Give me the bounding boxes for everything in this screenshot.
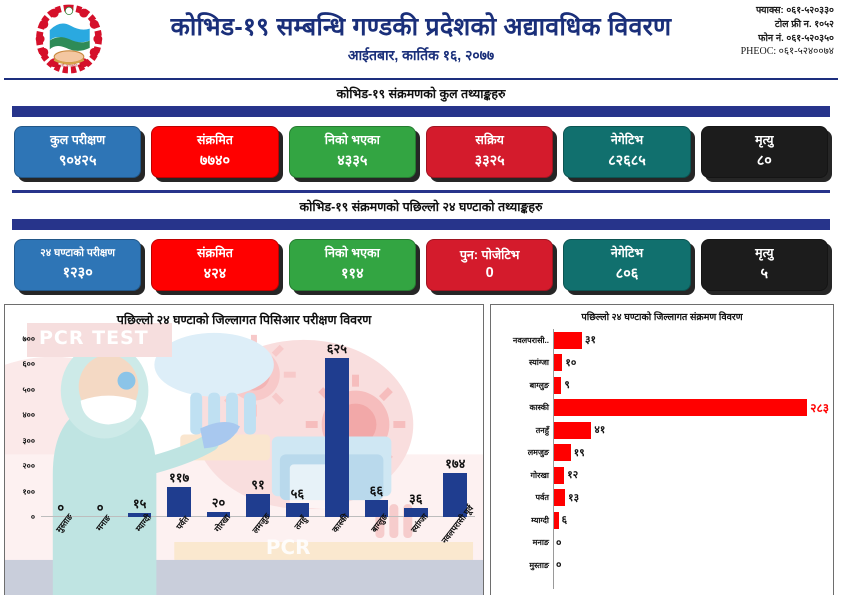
stat-card: मृत्यु८० (701, 126, 828, 178)
stat-card-value: ४२४ (204, 263, 227, 283)
bar-value-label: ६२५ (327, 339, 347, 357)
x-axis-labels-pcr: मुस्ताङमनाङम्याग्दीपर्वतगोरखालमजुङतनहुँक… (41, 517, 475, 593)
y-axis-tick-label: २०० (23, 461, 35, 472)
category-label: तनहुँ (491, 425, 553, 436)
bar-series-pcr: ००१५११७२०९१५६६२५६६३६१७४ (41, 339, 475, 517)
stat-card: सक्रिय३३२५ (426, 126, 553, 178)
stat-card-label: २४ घण्टाको परीक्षण (40, 248, 115, 260)
stat-card-label: निको भएका (325, 134, 380, 148)
x-axis-label: गोरखा (199, 517, 238, 593)
stat-card: निको भएका११४ (289, 239, 416, 291)
title-block: कोभिड-१९ सम्बन्धि गण्डकी प्रदेशको अद्याव… (0, 13, 842, 66)
category-label: मनाङ (491, 537, 553, 548)
stat-card-value: ११४ (341, 263, 364, 283)
category-label: मुस्ताङ (491, 560, 553, 571)
page-title: कोभिड-१९ सम्बन्धि गण्डकी प्रदेशको अद्याव… (40, 13, 802, 42)
bar-value-label: ११७ (169, 468, 189, 486)
chart-title-pcr: पछिल्लो २४ घण्टाको जिल्लागत पिसिआर परीक्… (5, 311, 483, 328)
bar-value-label: १७४ (445, 454, 465, 472)
bar-value-label: ० (57, 498, 64, 516)
stat-card-label: संक्रमित (197, 247, 233, 261)
y-axis-tick-label: ० (31, 512, 35, 523)
x-axis-label: बाग्लुङ (357, 517, 396, 593)
x-axis-label: पर्वत (159, 517, 198, 593)
bar-column: ६२५ (317, 339, 356, 517)
category-label: लमजुङ (491, 447, 553, 458)
stat-card-label: कुल परीक्षण (50, 134, 105, 148)
y-axis-tick-label: ४०० (23, 410, 35, 421)
chart-infection-by-district: पछिल्लो २४ घण्टाको जिल्लागत संक्रमण विवर… (490, 304, 834, 595)
stat-card-value: ९०४२५ (59, 150, 97, 170)
stat-card-value: ३३२५ (475, 150, 505, 170)
stat-cards-total: कुल परीक्षण९०४२५संक्रमित७७४०निको भएका४३३… (0, 117, 842, 186)
x-axis-label: कास्की (317, 517, 356, 593)
bar-column: ११७ (159, 339, 198, 517)
stat-card-value: ४३३५ (337, 150, 367, 170)
bar-column: ६६ (357, 339, 396, 517)
stat-card: नेगेटिभ८०६ (563, 239, 690, 291)
bar: ५६ (286, 503, 310, 517)
chart-pcr-test-by-district: PCR PCR TEST पछिल्लो २४ घण्टाको जिल्लागत… (4, 304, 484, 595)
bar-column: ३६ (396, 339, 435, 517)
stat-card-label: सक्रिय (475, 134, 504, 148)
bar-column: १५ (120, 339, 159, 517)
bar-value-label: ६६ (370, 481, 384, 499)
category-label: बाग्लुङ (491, 380, 553, 391)
chart-title-infection: पछिल्लो २४ घण्टाको जिल्लागत संक्रमण विवर… (491, 310, 833, 323)
stat-card-label: संक्रमित (197, 134, 233, 148)
bar: ११७ (167, 487, 191, 517)
stat-card: निको भएका४३३५ (289, 126, 416, 178)
stat-card: मृत्यु५ (701, 239, 828, 291)
stat-card-label: नेगेटिभ (611, 134, 643, 148)
category-label: कास्की (491, 402, 553, 413)
stat-card-value: ७७४० (200, 150, 230, 170)
section-bar-total (12, 106, 830, 117)
stat-card: २४ घण्टाको परीक्षण१२३० (14, 239, 141, 291)
stat-cards-24h: २४ घण्टाको परीक्षण१२३०संक्रमित४२४निको भए… (0, 230, 842, 299)
bar: ६२५ (325, 358, 349, 517)
phone-number: फोन नं. ०६१-५२०३५० (741, 32, 834, 46)
toll-free-number: टोल फ्री न. १०५२ (741, 18, 834, 32)
x-axis-label-text: तनहुँ (293, 514, 310, 532)
stat-card: कुल परीक्षण९०४२५ (14, 126, 141, 178)
stat-card-label: नेगेटिभ (611, 247, 643, 261)
charts-row: PCR PCR TEST पछिल्लो २४ घण्टाको जिल्लागत… (0, 299, 842, 595)
stat-card: पुन: पोजेटिभ0 (426, 239, 553, 291)
bar-value-label: ५६ (291, 484, 305, 502)
stat-card-label: पुन: पोजेटिभ (460, 249, 520, 263)
x-axis-label-text: मनाङ (94, 513, 113, 534)
svg-text:जननी जन्मभूमिश्च: जननी जन्मभूमिश्च (57, 63, 82, 69)
bar-value-label: ९१ (251, 475, 265, 493)
x-axis-label: लमजुङ (238, 517, 277, 593)
plot-area-pcr: ००१५११७२०९१५६६२५६६३६१७४ (41, 339, 475, 517)
report-date: आईतबार, कार्तिक १६, २०७७ (40, 46, 802, 65)
nepal-government-emblem-icon: जननी जन्मभूमिश्च (32, 2, 106, 76)
y-axis-line-infection (553, 329, 829, 589)
x-axis-label: तनहुँ (278, 517, 317, 593)
y-axis-tick-label: ३०० (23, 435, 35, 446)
bar-column: ० (41, 339, 80, 517)
x-axis-label: नवलपरासी पूर्व (436, 517, 475, 593)
bar-column: ९१ (238, 339, 277, 517)
y-axis-tick-label: ७०० (23, 334, 35, 345)
category-label: स्यांग्जा (491, 357, 553, 368)
stat-card-label: निको भएका (325, 247, 380, 261)
bar-value-label: २० (212, 493, 226, 511)
fax-number: फ्याक्स: ०६१-५२०३३० (741, 4, 834, 18)
y-axis-pcr: ०१००२००३००४००५००६००७०० (5, 339, 39, 517)
dashboard-page: जननी जन्मभूमिश्च कोभिड-१९ सम्बन्धि गण्डक… (0, 0, 842, 595)
stat-card-value: १२३० (63, 262, 93, 282)
section-title-total: कोभिड-१९ संक्रमणको कुल तथ्याङ्कहरु (0, 80, 842, 106)
y-axis-tick-label: १०० (23, 486, 35, 497)
stat-card: संक्रमित४२४ (151, 239, 278, 291)
stat-card-value: ८० (757, 150, 772, 170)
category-label: म्याग्दी (491, 515, 553, 526)
bar-column: २० (199, 339, 238, 517)
bar-column: १७४ (436, 339, 475, 517)
section-title-24h: कोभिड-१९ संक्रमणको पछिल्लो २४ घण्टाको तथ… (0, 193, 842, 219)
x-axis-label: स्यांग्जा (396, 517, 435, 593)
bar-value-label: ३६ (409, 489, 423, 507)
bar-column: ५६ (278, 339, 317, 517)
stat-card-label: मृत्यु (755, 247, 773, 261)
stat-card: संक्रमित७७४० (151, 126, 278, 178)
stat-card-value: ८०६ (616, 263, 639, 283)
bar-column: ० (80, 339, 119, 517)
stat-card-value: ८२६८५ (608, 150, 646, 170)
stat-card-label: मृत्यु (755, 134, 773, 148)
category-label: नवलपरासी.. (491, 335, 553, 346)
section-bar-24h (12, 219, 830, 230)
bar-value-label: १५ (133, 494, 147, 512)
x-axis-label: मुस्ताङ (41, 517, 80, 593)
x-axis-label: म्याग्दी (120, 517, 159, 593)
contact-info: फ्याक्स: ०६१-५२०३३० टोल फ्री न. १०५२ फोन… (741, 4, 834, 60)
page-header: जननी जन्मभूमिश्च कोभिड-१९ सम्बन्धि गण्डक… (0, 0, 842, 78)
pheoc-number: PHEOC: ०६१-५२४००७४ (741, 45, 834, 60)
y-axis-tick-label: ६०० (23, 359, 35, 370)
category-label: गोरखा (491, 470, 553, 481)
stat-card: नेगेटिभ८२६८५ (563, 126, 690, 178)
x-axis-label: मनाङ (80, 517, 119, 593)
x-axis-label-text: पर्वत (174, 514, 192, 532)
y-axis-tick-label: ५०० (23, 384, 35, 395)
stat-card-value: ५ (761, 263, 769, 283)
stat-card-value: 0 (486, 265, 494, 281)
category-label: पर्वत (491, 492, 553, 503)
bar-value-label: ० (97, 498, 104, 516)
